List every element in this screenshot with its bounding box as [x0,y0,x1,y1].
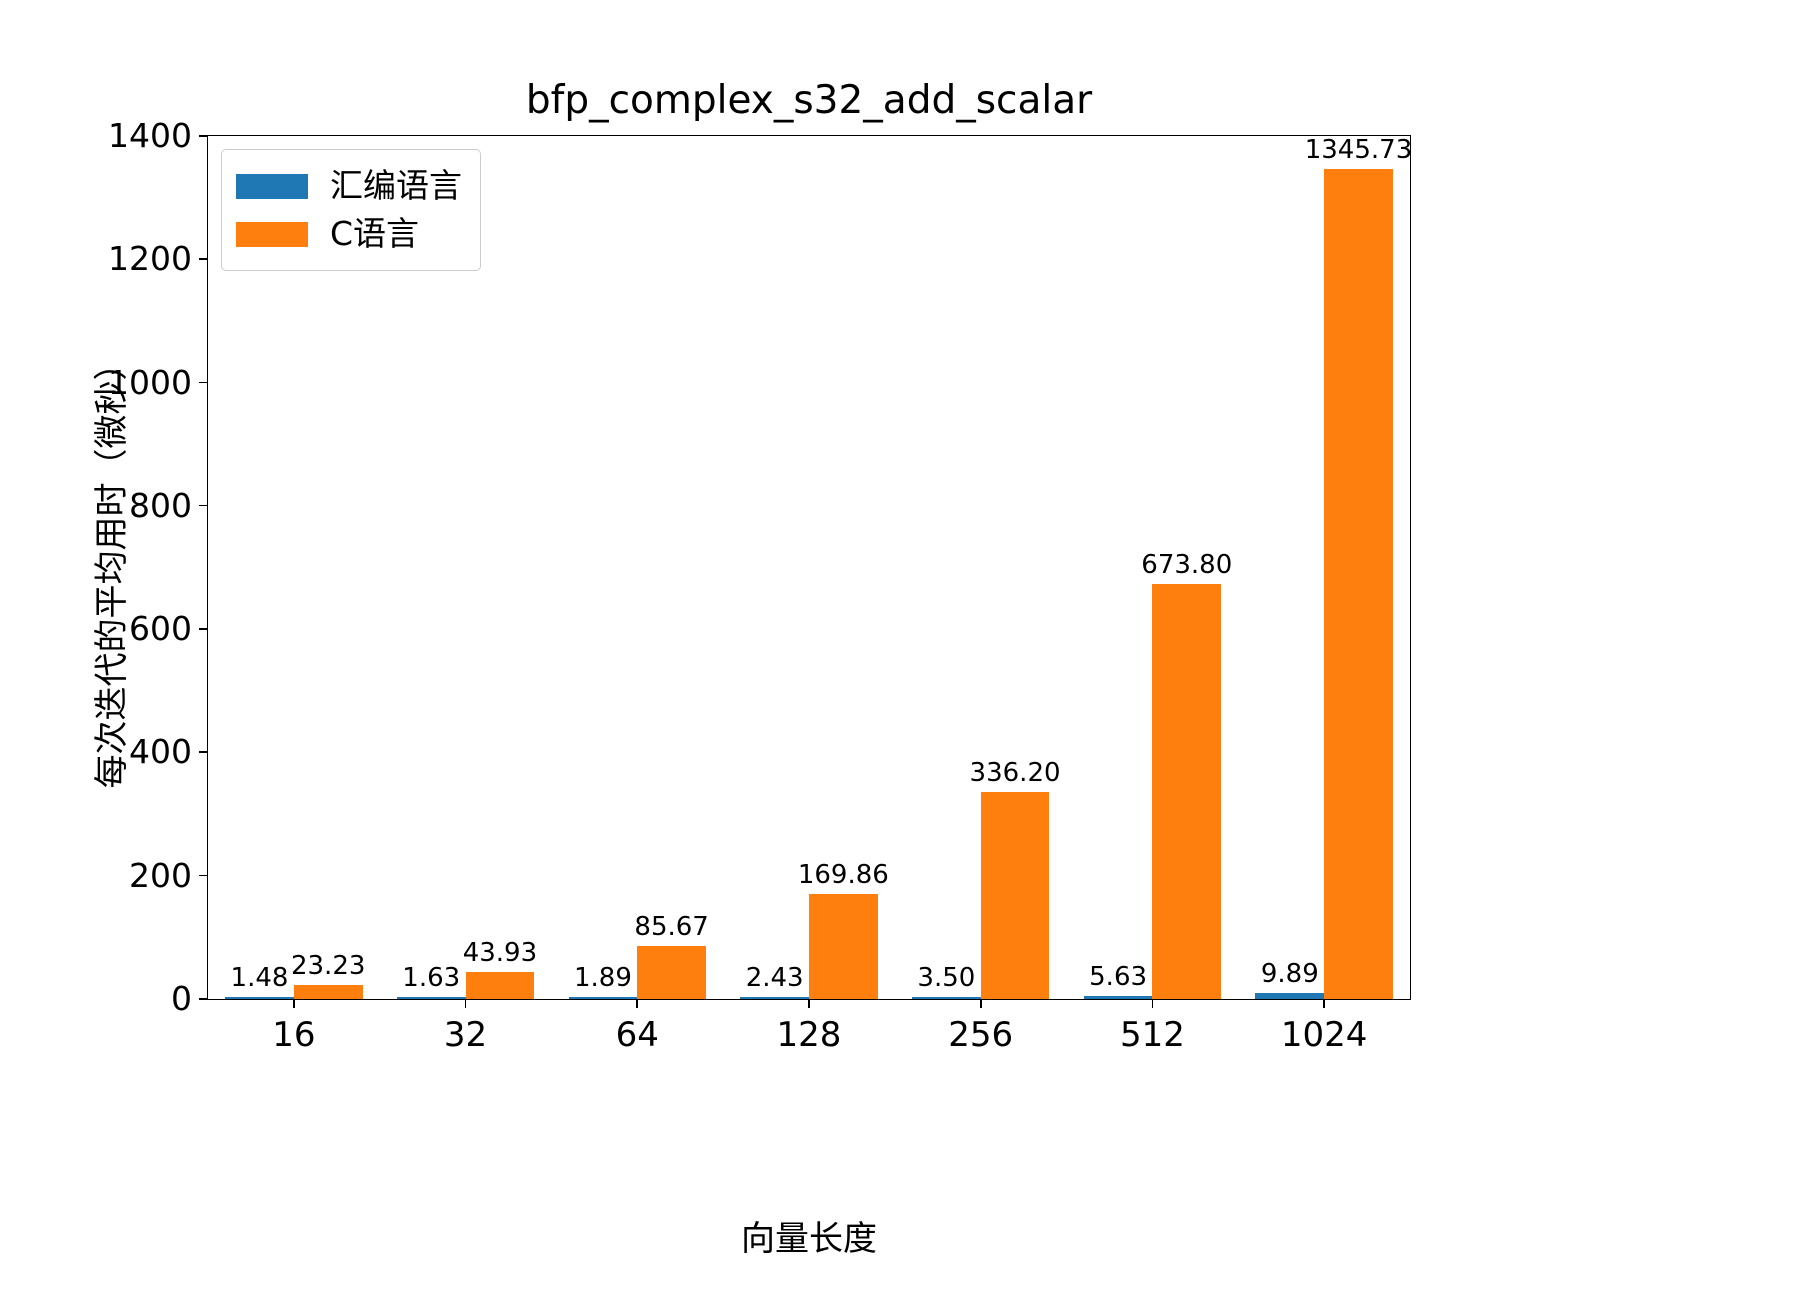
legend-label-c: C语言 [330,214,419,254]
x-tick-label: 512 [1120,1015,1185,1055]
legend-item-c: C语言 [236,210,462,258]
x-tick-mark [980,999,982,1008]
y-tick-mark [199,258,208,260]
plot-area: 0200400600800100012001400 16326412825651… [207,135,1411,1000]
x-tick-label: 32 [444,1015,487,1055]
x-tick-label: 64 [616,1015,659,1055]
x-tick-label: 128 [777,1015,842,1055]
x-tick-mark [808,999,810,1008]
bar-value-label: 336.20 [970,758,1061,788]
bar-c-32 [466,972,535,999]
x-tick-mark [636,999,638,1008]
y-tick-mark [199,628,208,630]
bar-c-512 [1152,584,1221,999]
x-tick-mark [465,999,467,1008]
legend-swatch-c [236,222,308,247]
x-tick-mark [1152,999,1154,1008]
bar-c-256 [981,792,1050,999]
bar-value-label: 1.48 [231,963,289,993]
x-tick-label: 256 [948,1015,1013,1055]
bar-value-label: 1345.73 [1305,135,1413,165]
bar-value-label: 673.80 [1141,550,1232,580]
y-axis-label: 每次迭代的平均用时（微秒） [84,135,140,1000]
x-tick-mark [293,999,295,1008]
bar-value-label: 43.93 [463,938,537,968]
y-tick-mark [199,751,208,753]
chart-legend: 汇编语言 C语言 [221,149,481,271]
bar-assembly-256 [912,997,981,999]
y-tick-mark [199,875,208,877]
bar-c-64 [637,946,706,999]
y-tick-mark [199,135,208,137]
bar-assembly-512 [1084,996,1153,999]
bar-assembly-128 [740,997,809,999]
bar-value-label: 1.63 [402,963,460,993]
legend-swatch-assembly [236,174,308,199]
bar-assembly-1024 [1255,993,1324,999]
bar-c-1024 [1324,169,1393,999]
bar-value-label: 169.86 [798,860,889,890]
matplotlib-figure: bfp_complex_s32_add_scalar 0200400600800… [0,0,1820,1300]
chart-title: bfp_complex_s32_add_scalar [207,78,1411,124]
y-tick-mark [199,505,208,507]
bar-value-label: 3.50 [917,963,975,993]
bar-assembly-32 [397,997,466,999]
bar-c-128 [809,894,878,999]
bar-assembly-16 [225,997,294,999]
x-axis-label: 向量长度 [207,1218,1411,1260]
bar-value-label: 1.89 [574,963,632,993]
x-tick-label: 1024 [1281,1015,1368,1055]
x-tick-label: 16 [272,1015,315,1055]
bar-assembly-64 [569,997,638,999]
bar-value-label: 5.63 [1089,962,1147,992]
x-tick-mark [1323,999,1325,1008]
y-tick-label: 0 [171,980,192,1018]
bar-value-label: 23.23 [291,951,365,981]
bar-value-label: 85.67 [634,912,708,942]
legend-item-assembly: 汇编语言 [236,162,462,210]
legend-label-assembly: 汇编语言 [330,166,462,206]
y-tick-mark [199,998,208,1000]
y-tick-mark [199,382,208,384]
bar-value-label: 2.43 [746,963,804,993]
bar-c-16 [294,985,363,999]
bar-value-label: 9.89 [1261,959,1319,989]
